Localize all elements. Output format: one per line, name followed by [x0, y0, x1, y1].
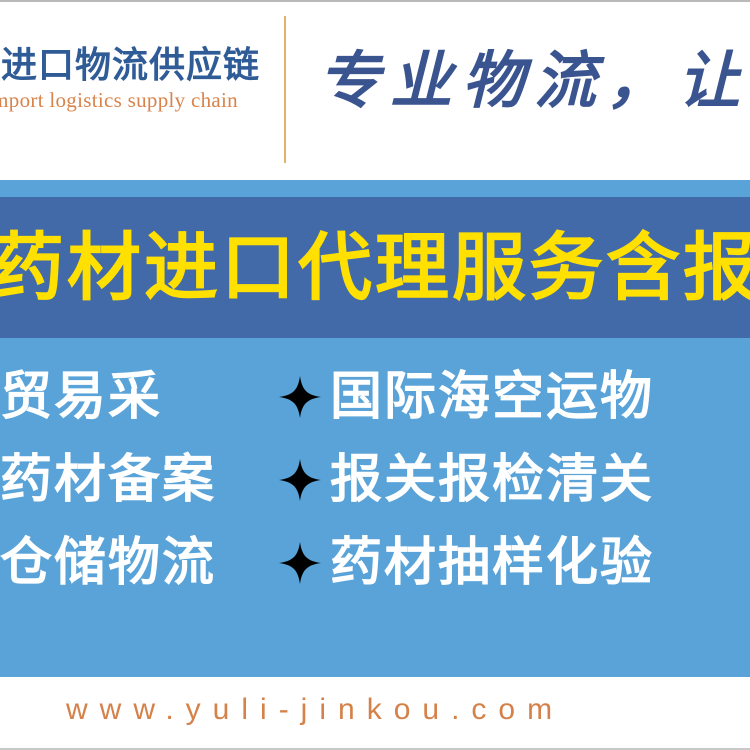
- feature-row: 仓储物流 药材抽样化验: [0, 521, 750, 604]
- feature-label: 贸易采: [0, 371, 162, 423]
- feature-item: 药材备案: [0, 454, 278, 506]
- feature-label: 药材备案: [0, 454, 216, 506]
- feature-row: 贸易采 国际海空运物: [0, 355, 750, 438]
- header-tagline: 专业物流，让外: [318, 48, 750, 116]
- banner-footer: www.yuli-jinkou.com: [0, 677, 750, 750]
- logo-english-name: import logistics supply chain: [0, 88, 262, 113]
- header-vertical-divider: [284, 16, 286, 163]
- service-title: 药材进口代理服务含报: [0, 231, 750, 305]
- logo-chinese-name: 励进口物流供应链: [0, 46, 262, 84]
- feature-item: 药材抽样化验: [278, 537, 654, 589]
- website-url[interactable]: www.yuli-jinkou.com: [66, 693, 564, 727]
- feature-label: 国际海空运物: [330, 371, 654, 423]
- four-point-star-icon: [278, 541, 322, 585]
- four-point-star-icon: [278, 375, 322, 419]
- feature-item: 报关报检清关: [278, 454, 654, 506]
- service-feature-list: 贸易采 国际海空运物: [0, 355, 750, 604]
- feature-item: 贸易采: [0, 371, 278, 423]
- service-panel: 药材进口代理服务含报 贸易采: [0, 180, 750, 677]
- four-point-star-icon: [278, 458, 322, 502]
- service-title-band: 药材进口代理服务含报: [0, 197, 750, 338]
- feature-item: 国际海空运物: [278, 371, 654, 423]
- feature-label: 药材抽样化验: [330, 537, 654, 589]
- feature-label: 报关报检清关: [330, 454, 654, 506]
- promo-banner: 励进口物流供应链 import logistics supply chain 专…: [0, 0, 750, 750]
- feature-label: 仓储物流: [0, 537, 216, 589]
- feature-item: 仓储物流: [0, 537, 278, 589]
- feature-row: 药材备案 报关报检清关: [0, 438, 750, 521]
- company-logo: 励进口物流供应链 import logistics supply chain: [0, 46, 262, 113]
- banner-header: 励进口物流供应链 import logistics supply chain 专…: [0, 2, 750, 180]
